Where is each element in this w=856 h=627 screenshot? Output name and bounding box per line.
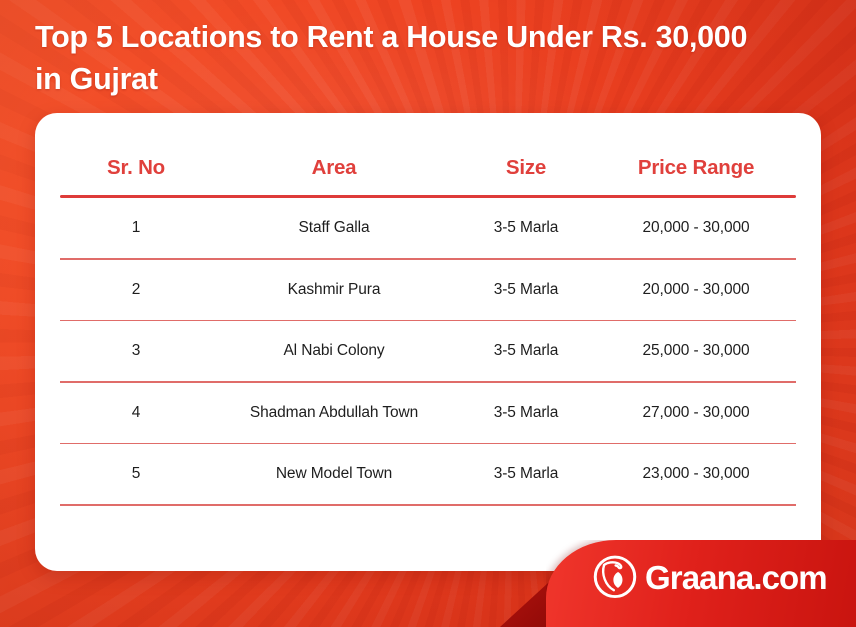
cell-sr-no: 1 [60, 219, 212, 237]
cell-size: 3-5 Marla [456, 281, 596, 299]
column-header-area: Area [212, 156, 456, 180]
cell-area: Shadman Abdullah Town [212, 404, 456, 422]
table-row: 4 Shadman Abdullah Town 3-5 Marla 27,000… [60, 383, 796, 443]
table-row: 5 New Model Town 3-5 Marla 23,000 - 30,0… [60, 444, 796, 504]
cell-price-range: 23,000 - 30,000 [596, 465, 796, 483]
column-header-sr-no: Sr. No [60, 156, 212, 180]
table-row: 3 Al Nabi Colony 3-5 Marla 25,000 - 30,0… [60, 321, 796, 381]
locations-table-card: Sr. No Area Size Price Range 1 Staff Gal… [35, 113, 821, 571]
cell-size: 3-5 Marla [456, 465, 596, 483]
row-divider [60, 443, 796, 445]
cell-size: 3-5 Marla [456, 219, 596, 237]
cell-area: New Model Town [212, 465, 456, 483]
cell-area: Kashmir Pura [212, 281, 456, 299]
cell-sr-no: 4 [60, 404, 212, 422]
banner-corner-wedge [500, 572, 560, 627]
cell-sr-no: 2 [60, 281, 212, 299]
row-divider [60, 258, 796, 260]
table-row: 1 Staff Galla 3-5 Marla 20,000 - 30,000 [60, 198, 796, 258]
cell-size: 3-5 Marla [456, 404, 596, 422]
column-header-price-range: Price Range [596, 156, 796, 180]
row-divider [60, 504, 796, 506]
column-header-size: Size [456, 156, 596, 180]
row-divider [60, 381, 796, 383]
table-row: 2 Kashmir Pura 3-5 Marla 20,000 - 30,000 [60, 260, 796, 320]
cell-price-range: 20,000 - 30,000 [596, 219, 796, 237]
cell-price-range: 27,000 - 30,000 [596, 404, 796, 422]
cell-area: Al Nabi Colony [212, 342, 456, 360]
table-header-row: Sr. No Area Size Price Range [60, 141, 796, 195]
row-divider [60, 320, 796, 322]
infographic-poster: Top 5 Locations to Rent a House Under Rs… [0, 0, 856, 627]
cell-sr-no: 5 [60, 465, 212, 483]
cell-sr-no: 3 [60, 342, 212, 360]
cell-area: Staff Galla [212, 219, 456, 237]
page-title: Top 5 Locations to Rent a House Under Rs… [35, 16, 835, 100]
cell-price-range: 25,000 - 30,000 [596, 342, 796, 360]
cell-size: 3-5 Marla [456, 342, 596, 360]
cell-price-range: 20,000 - 30,000 [596, 281, 796, 299]
locations-table: Sr. No Area Size Price Range 1 Staff Gal… [60, 141, 796, 506]
